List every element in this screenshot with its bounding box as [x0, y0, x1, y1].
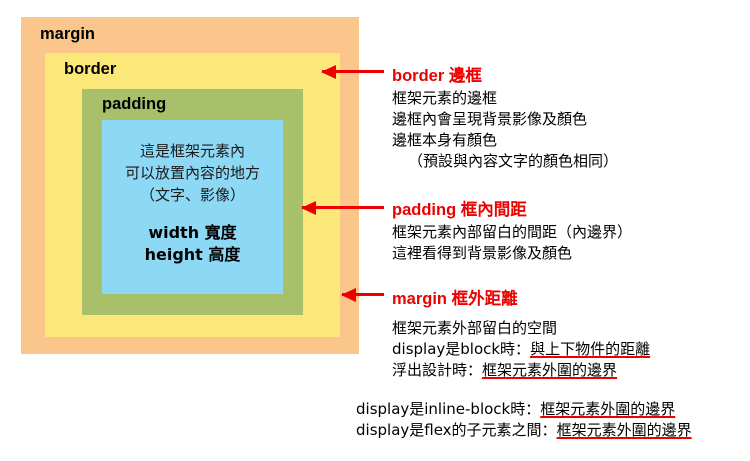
- padding-desc-line-2: 這裡看得到背景影像及顏色: [392, 243, 632, 264]
- content-line-2: 可以放置內容的地方: [125, 164, 260, 182]
- padding-desc-line-1: 框架元素內部留白的間距（內邊界）: [392, 222, 632, 243]
- box-model-content-area: 這是框架元素內 可以放置內容的地方 （文字、影像） width 寬度 heigh…: [102, 120, 283, 294]
- border-label: border: [64, 60, 116, 79]
- annotation-body-margin: 框架元素外部留白的空間 display是block時：與上下物件的距離 浮出設計…: [392, 318, 650, 381]
- margin-rule-4-prefix: display是flex的子元素之間：: [356, 421, 557, 439]
- border-desc-line-3: 邊框本身有顏色: [392, 130, 618, 151]
- border-desc-line-4: （預設與內容文字的顏色相同）: [392, 151, 618, 172]
- annotation-heading-margin: margin 框外距離: [392, 285, 518, 309]
- border-desc-line-2: 邊框內會呈現背景影像及顏色: [392, 109, 618, 130]
- margin-callout-arrow: [342, 293, 384, 296]
- margin-rule-4-emphasis: 框架元素外圍的邊界: [557, 421, 692, 439]
- content-width-label: width 寬度: [102, 222, 283, 244]
- margin-rule-1-emphasis: 與上下物件的距離: [530, 340, 650, 358]
- margin-label: margin: [40, 25, 95, 44]
- box-model-border-area: border padding 這是框架元素內 可以放置內容的地方 （文字、影像）…: [45, 53, 340, 337]
- border-desc-line-1: 框架元素的邊框: [392, 88, 618, 109]
- annotation-heading-padding: padding 框內間距: [392, 196, 527, 220]
- margin-rule-block-4: display是flex的子元素之間：框架元素外圍的邊界: [356, 420, 692, 441]
- margin-rule-3-prefix: display是inline-block時：: [356, 400, 540, 418]
- annotation-body-margin-extra: display是inline-block時：框架元素外圍的邊界 display是…: [356, 399, 692, 441]
- margin-rule-1-prefix: display是block時：: [392, 340, 530, 358]
- annotation-body-padding: 框架元素內部留白的間距（內邊界） 這裡看得到背景影像及顏色: [392, 222, 632, 264]
- box-model-padding-area: padding 這是框架元素內 可以放置內容的地方 （文字、影像） width …: [82, 89, 303, 315]
- margin-rule-3-emphasis: 框架元素外圍的邊界: [540, 400, 675, 418]
- box-model-margin-area: margin border padding 這是框架元素內 可以放置內容的地方 …: [21, 17, 359, 354]
- margin-rule-block-3: display是inline-block時：框架元素外圍的邊界: [356, 399, 692, 420]
- content-area-text: 這是框架元素內 可以放置內容的地方 （文字、影像） width 寬度 heigh…: [102, 140, 283, 266]
- padding-callout-arrow: [302, 206, 384, 209]
- margin-rule-2-prefix: 浮出設計時：: [392, 361, 482, 379]
- content-line-3: （文字、影像）: [140, 186, 245, 204]
- margin-desc-line-1: 框架元素外部留白的空間: [392, 318, 650, 339]
- content-line-1: 這是框架元素內: [140, 142, 245, 160]
- annotation-body-border: 框架元素的邊框 邊框內會呈現背景影像及顏色 邊框本身有顏色 （預設與內容文字的顏…: [392, 88, 618, 172]
- margin-rule-block: display是block時：與上下物件的距離: [392, 339, 650, 360]
- margin-rule-2-emphasis: 框架元素外圍的邊界: [482, 361, 617, 379]
- margin-rule-block-2: 浮出設計時：框架元素外圍的邊界: [392, 360, 650, 381]
- annotation-heading-border: border 邊框: [392, 62, 482, 86]
- content-height-label: height 高度: [102, 244, 283, 266]
- padding-label: padding: [102, 95, 166, 114]
- border-callout-arrow: [322, 70, 384, 73]
